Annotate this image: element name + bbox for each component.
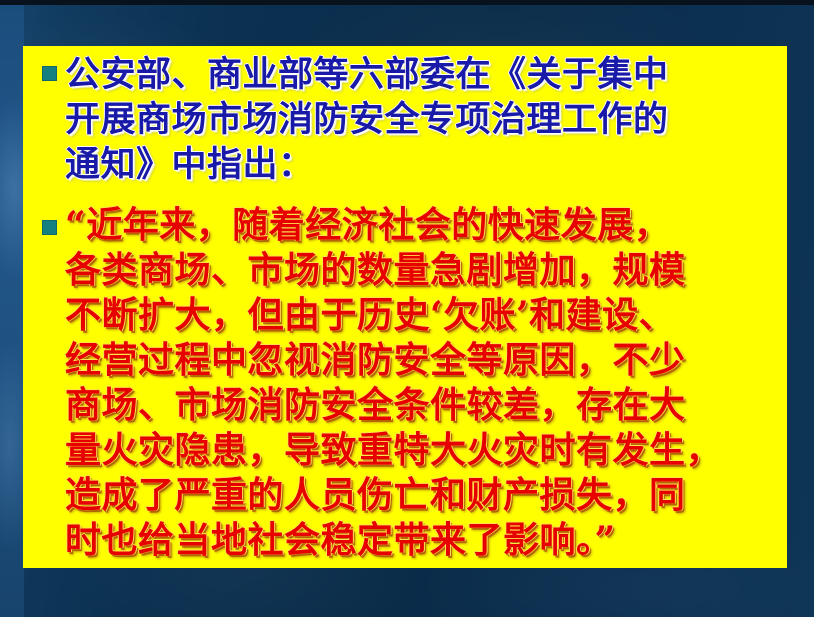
left-accent-strip (0, 5, 24, 617)
top-edge-band (0, 0, 814, 5)
heading-line-2: 开展商场市场消防安全专项治理工作的 (65, 97, 777, 142)
quote-paragraph: “近年来，随着经济社会的快速发展， 各类商场、市场的数量急剧增加，规模 不断扩大… (65, 203, 787, 563)
heading-line-3: 通知》中指出： (65, 142, 777, 187)
quote-line-2: 各类商场、市场的数量急剧增加，规模 (65, 248, 777, 293)
yellow-content-card: 公安部、商业部等六部委在《关于集中 开展商场市场消防安全专项治理工作的 通知》中… (23, 46, 787, 568)
bullet-gutter (23, 52, 65, 81)
quote-line-4: 经营过程中忽视消防安全等原因，不少 (65, 338, 777, 383)
heading-paragraph: 公安部、商业部等六部委在《关于集中 开展商场市场消防安全专项治理工作的 通知》中… (65, 52, 787, 187)
quote-line-1: “近年来，随着经济社会的快速发展， (65, 203, 777, 248)
heading-line-1: 公安部、商业部等六部委在《关于集中 (65, 52, 777, 97)
square-bullet-icon (42, 220, 57, 235)
bullet-item-heading: 公安部、商业部等六部委在《关于集中 开展商场市场消防安全专项治理工作的 通知》中… (23, 52, 787, 187)
slide-canvas: 公安部、商业部等六部委在《关于集中 开展商场市场消防安全专项治理工作的 通知》中… (0, 0, 814, 617)
quote-line-3: 不断扩大，但由于历史‘欠账’和建设、 (65, 293, 777, 338)
quote-line-7: 造成了严重的人员伤亡和财产损失，同 (65, 473, 777, 518)
quote-line-8: 时也给当地社会稳定带来了影响。” (65, 518, 777, 563)
square-bullet-icon (42, 66, 57, 81)
quote-line-5: 商场、市场消防安全条件较差，存在大 (65, 383, 777, 428)
quote-line-6: 量火灾隐患，导致重特大火灾时有发生， (65, 428, 777, 473)
bullet-item-quote: “近年来，随着经济社会的快速发展， 各类商场、市场的数量急剧增加，规模 不断扩大… (23, 203, 787, 563)
bullet-gutter (23, 203, 65, 235)
